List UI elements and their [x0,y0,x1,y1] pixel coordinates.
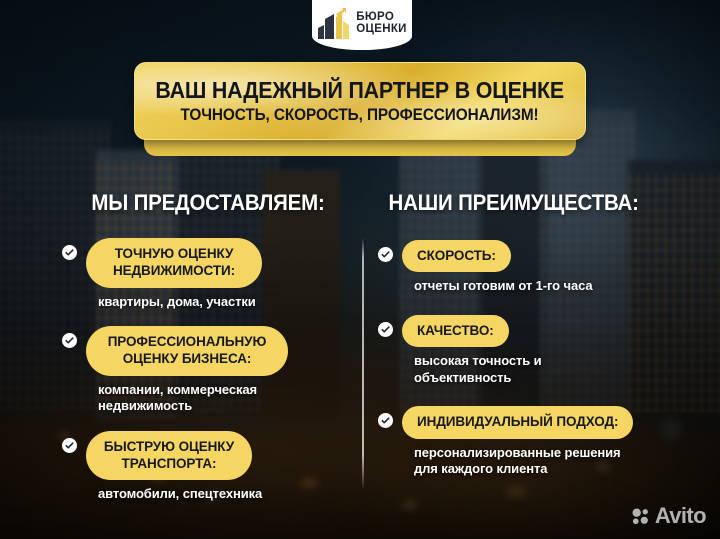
list-item-body: КАЧЕСТВО: высокая точность и объективнос… [402,315,542,387]
service-description: компании, коммерческая недвижимость [86,382,291,415]
list-item-body: БЫСТРУЮ ОЦЕНКУ ТРАНСПОРТА: автомобили, с… [86,431,262,503]
check-icon [62,333,77,348]
list-item: ТОЧНУЮ ОЦЕНКУ НЕДВИЖИМОСТИ: квартиры, до… [62,238,354,310]
advantage-description: персонализированные решения для каждого … [402,445,628,478]
headline-banner: ВАШ НАДЕЖНЫЙ ПАРТНЕР В ОЦЕНКЕ ТОЧНОСТЬ, … [134,62,586,140]
check-icon [378,322,393,337]
building-chart-arrow-icon [317,8,351,40]
advantages-heading: НАШИ ПРЕИМУЩЕСТВА: [389,190,668,216]
service-title-pill: БЫСТРУЮ ОЦЕНКУ ТРАНСПОРТА: [86,431,252,481]
headline-text: ВАШ НАДЕЖНЫЙ ПАРТНЕР В ОЦЕНКЕ [156,77,565,104]
advantage-description: высокая точность и объективность [402,353,542,386]
poster-root: БЮРО ОЦЕНКИ ВАШ НАДЕЖНЫЙ ПАРТНЕР В ОЦЕНК… [0,0,720,539]
advantage-title-pill: КАЧЕСТВО: [402,315,509,347]
advantage-title-pill: СКОРОСТЬ: [402,240,511,272]
logo: БЮРО ОЦЕНКИ [312,0,412,50]
logo-line-2: ОЦЕНКИ [356,24,406,36]
check-icon [378,247,393,262]
advantage-description: отчеты готовим от 1-го часа [402,278,593,295]
avito-wordmark: Avito [655,503,706,529]
check-icon [62,438,77,453]
service-description: автомобили, спецтехника [86,486,262,503]
advantage-title-pill: ИНДИВИДУАЛЬНЫЙ ПОДХОД: [402,406,633,438]
list-item-body: ПРОФЕССИОНАЛЬНУЮ ОЦЕНКУ БИЗНЕСА: компани… [86,326,291,415]
service-title-pill: ТОЧНУЮ ОЦЕНКУ НЕДВИЖИМОСТИ: [86,238,262,288]
logo-text: БЮРО ОЦЕНКИ [356,12,406,35]
service-description: квартиры, дома, участки [86,294,262,311]
services-column: МЫ ПРЕДОСТАВЛЯЕМ: ТОЧНУЮ ОЦЕНКУ НЕДВИЖИМ… [62,190,354,503]
avito-dots-icon [631,507,650,526]
list-item-body: ИНДИВИДУАЛЬНЫЙ ПОДХОД: персонализированн… [402,406,633,478]
services-heading: МЫ ПРЕДОСТАВЛЯЕМ: [72,190,344,216]
list-item-body: ТОЧНУЮ ОЦЕНКУ НЕДВИЖИМОСТИ: квартиры, до… [86,238,262,310]
advantages-column: НАШИ ПРЕИМУЩЕСТВА: СКОРОСТЬ: отчеты гото… [378,190,678,478]
check-icon [378,413,393,428]
list-item: СКОРОСТЬ: отчеты готовим от 1-го часа [378,240,678,295]
list-item: БЫСТРУЮ ОЦЕНКУ ТРАНСПОРТА: автомобили, с… [62,431,354,503]
list-item: ПРОФЕССИОНАЛЬНУЮ ОЦЕНКУ БИЗНЕСА: компани… [62,326,354,415]
avito-watermark: Avito [631,503,706,529]
check-icon [62,245,77,260]
list-item-body: СКОРОСТЬ: отчеты готовим от 1-го часа [402,240,593,295]
service-title-pill: ПРОФЕССИОНАЛЬНУЮ ОЦЕНКУ БИЗНЕСА: [86,326,288,376]
list-item: КАЧЕСТВО: высокая точность и объективнос… [378,315,678,387]
headline-banner-panel: ВАШ НАДЕЖНЫЙ ПАРТНЕР В ОЦЕНКЕ ТОЧНОСТЬ, … [134,62,586,140]
logo-line-1: БЮРО [356,12,406,24]
list-item: ИНДИВИДУАЛЬНЫЙ ПОДХОД: персонализированн… [378,406,678,478]
column-divider [362,238,364,490]
subheadline-text: ТОЧНОСТЬ, СКОРОСТЬ, ПРОФЕССИОНАЛИЗМ! [181,106,539,125]
